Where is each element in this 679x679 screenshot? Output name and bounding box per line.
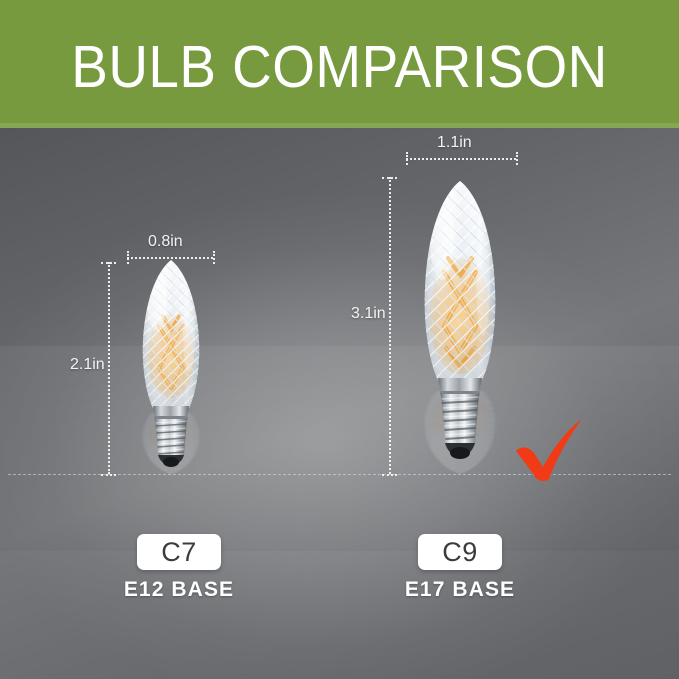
c7-bulb-image — [129, 256, 213, 478]
red-check-mark-icon — [510, 415, 588, 488]
c9-width-dimension-line — [406, 158, 516, 160]
bulb-comparison-infographic: BULB COMPARISON 0.8in 2.1in 1.1in 3.1in — [0, 0, 679, 679]
page-title: BULB COMPARISON — [24, 33, 655, 101]
c7-chip: C7 — [137, 534, 221, 570]
c9-height-cap-top — [382, 177, 397, 179]
c9-bulb-image — [407, 176, 513, 476]
c7-width-label: 0.8in — [148, 232, 183, 251]
c7-height-cap-bottom — [101, 474, 116, 476]
c9-base-label: E17 BASE — [360, 577, 560, 602]
c9-height-cap-bottom — [382, 474, 397, 476]
c7-width-cap-right — [213, 251, 215, 264]
c9-width-label: 1.1in — [437, 133, 472, 152]
c7-base-label: E12 BASE — [79, 577, 279, 602]
c9-height-dimension-line — [389, 177, 391, 474]
c7-height-cap-top — [101, 262, 116, 264]
c9-chip-label: C9 — [442, 539, 478, 566]
c7-height-label: 2.1in — [70, 355, 105, 374]
c9-height-label: 3.1in — [351, 304, 386, 323]
c9-width-cap-left — [406, 152, 408, 165]
c9-width-cap-right — [516, 152, 518, 165]
c7-height-dimension-line — [108, 262, 110, 474]
c9-chip: C9 — [418, 534, 502, 570]
c7-chip-label: C7 — [161, 539, 197, 566]
